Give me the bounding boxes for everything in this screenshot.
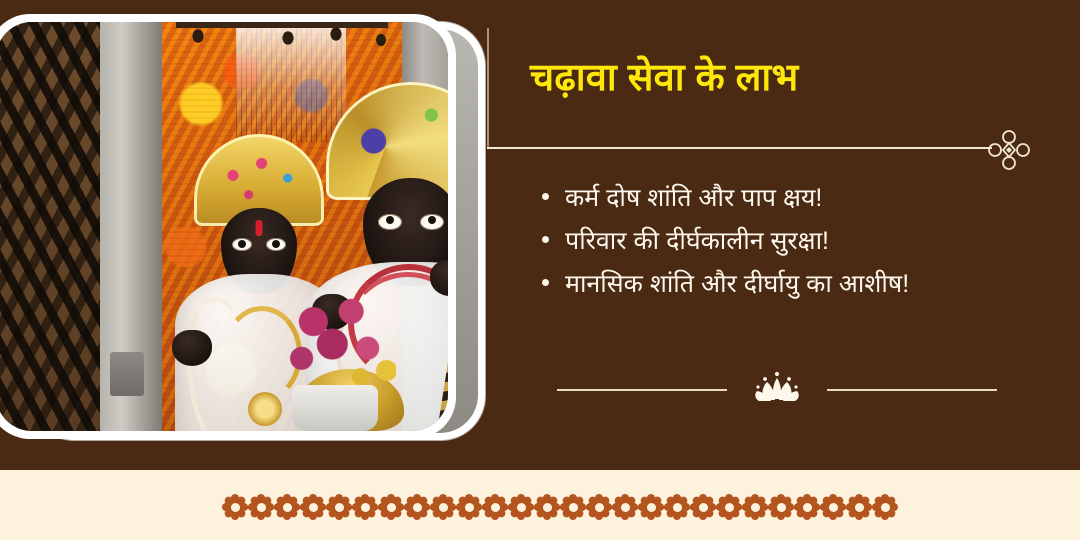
eye-left bbox=[232, 238, 252, 251]
divider-line-left bbox=[557, 389, 727, 391]
flower-icon bbox=[326, 493, 352, 521]
eye-left bbox=[378, 214, 402, 230]
header-divider bbox=[487, 147, 1080, 149]
flower-icon bbox=[248, 493, 274, 521]
flower-icon bbox=[534, 493, 560, 521]
flower-icon bbox=[430, 493, 456, 521]
deity-eyes bbox=[232, 238, 286, 251]
flower-icon bbox=[716, 493, 742, 521]
bullet-dot-icon bbox=[542, 236, 549, 243]
deity-photograph bbox=[0, 22, 448, 431]
flower-vase bbox=[278, 291, 396, 431]
flower-icon bbox=[300, 493, 326, 521]
bullet-dot-icon bbox=[542, 193, 549, 200]
lotus-icon bbox=[749, 368, 805, 408]
flower-icon bbox=[742, 493, 768, 521]
divider-line bbox=[487, 147, 992, 149]
vase-body bbox=[292, 385, 378, 431]
temple-gate-grille bbox=[0, 22, 108, 431]
pink-flowers bbox=[278, 291, 396, 393]
promotional-banner: चढ़ावा सेवा के लाभ कर् bbox=[0, 0, 1080, 540]
gold-pendant bbox=[248, 392, 282, 426]
eye-right bbox=[420, 214, 444, 230]
list-item: परिवार की दीर्घकालीन सुरक्षा! bbox=[542, 229, 1062, 254]
decorative-knot-icon bbox=[985, 130, 1033, 170]
bullet-dot-icon bbox=[542, 279, 549, 286]
list-item: मानसिक शांति और दीर्घायु का आशीष! bbox=[542, 272, 1062, 297]
temple-photo-panel bbox=[0, 0, 500, 470]
ceiling-bells bbox=[176, 22, 388, 48]
flower-icon bbox=[482, 493, 508, 521]
benefit-text: कर्म दोष शांति और पाप क्षय! bbox=[565, 186, 822, 211]
flower-icon bbox=[586, 493, 612, 521]
flower-border-strip bbox=[222, 490, 862, 524]
vertical-accent-rule bbox=[487, 28, 489, 148]
flower-icon bbox=[638, 493, 664, 521]
photo-front-frame bbox=[0, 14, 456, 439]
list-item: कर्म दोष शांति और पाप क्षय! bbox=[542, 186, 1062, 211]
flower-icon bbox=[352, 493, 378, 521]
flower-icon bbox=[820, 493, 846, 521]
flower-icon bbox=[612, 493, 638, 521]
flower-icon bbox=[508, 493, 534, 521]
flower-icon bbox=[404, 493, 430, 521]
left-pillar bbox=[100, 22, 162, 431]
benefits-list: कर्म दोष शांति और पाप क्षय! परिवार की दी… bbox=[542, 186, 1062, 315]
benefit-text: मानसिक शांति और दीर्घायु का आशीष! bbox=[565, 272, 909, 297]
lotus-divider bbox=[557, 372, 997, 406]
flower-icon bbox=[456, 493, 482, 521]
flower-icon bbox=[872, 493, 898, 521]
flower-icon bbox=[664, 493, 690, 521]
flower-icon bbox=[794, 493, 820, 521]
flower-icon bbox=[378, 493, 404, 521]
tilak-mark bbox=[256, 220, 263, 236]
deity-eyes bbox=[378, 214, 444, 230]
page-title: चढ़ावा सेवा के लाभ bbox=[530, 56, 798, 102]
flower-icon bbox=[560, 493, 586, 521]
flower-icon bbox=[690, 493, 716, 521]
flower-icon bbox=[222, 493, 248, 521]
deity-hand bbox=[172, 330, 212, 366]
flower-icon bbox=[768, 493, 794, 521]
benefit-text: परिवार की दीर्घकालीन सुरक्षा! bbox=[565, 229, 829, 254]
eye-right bbox=[266, 238, 286, 251]
divider-line-right bbox=[827, 389, 997, 391]
flower-icon bbox=[274, 493, 300, 521]
content-column: चढ़ावा सेवा के लाभ कर् bbox=[487, 0, 1080, 470]
flower-icon bbox=[846, 493, 872, 521]
temple-scene bbox=[0, 22, 448, 431]
